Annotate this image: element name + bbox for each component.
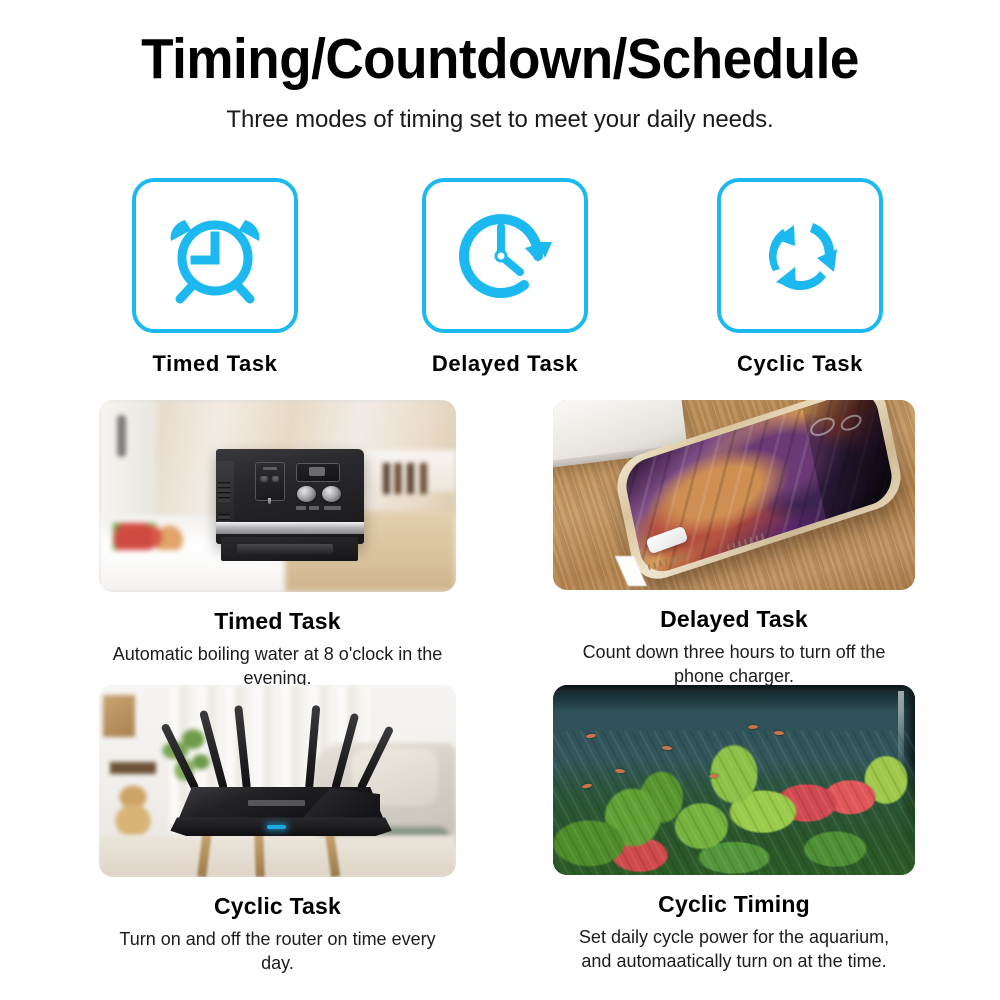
header: Timing/Countdown/Schedule Three modes of… bbox=[0, 30, 1000, 134]
card-description: Set daily cycle power for the aquarium, … bbox=[553, 925, 915, 974]
icon-frame bbox=[132, 178, 298, 333]
cycle-arrows-icon bbox=[747, 205, 853, 307]
card-title: Cyclic Task bbox=[99, 893, 456, 920]
alarm-clock-icon bbox=[159, 204, 271, 308]
promo-page: Timing/Countdown/Schedule Three modes of… bbox=[0, 0, 1000, 1000]
use-case-card[interactable]: Cyclic Timing Set daily cycle power for … bbox=[553, 685, 915, 974]
page-title: Timing/Countdown/Schedule bbox=[35, 30, 965, 90]
use-case-card[interactable]: Delayed Task Count down three hours to t… bbox=[553, 400, 915, 689]
mode-item-cyclic-task[interactable]: Cyclic Task bbox=[700, 178, 900, 377]
use-case-card[interactable]: Timed Task Automatic boiling water at 8 … bbox=[99, 400, 456, 691]
card-description: Turn on and off the router on time every… bbox=[99, 927, 456, 976]
page-subtitle: Three modes of timing set to meet your d… bbox=[0, 106, 1000, 134]
card-description: Automatic boiling water at 8 o'clock in … bbox=[99, 642, 456, 691]
mode-item-timed-task[interactable]: Timed Task bbox=[115, 178, 315, 377]
mode-label: Cyclic Task bbox=[700, 351, 900, 377]
use-case-card[interactable]: Cyclic Task Turn on and off the router o… bbox=[99, 685, 456, 976]
clock-arrow-icon bbox=[450, 204, 560, 308]
use-case-card-grid: Timed Task Automatic boiling water at 8 … bbox=[0, 400, 1000, 1000]
mode-icon-row: Timed Task Delayed Task bbox=[0, 178, 1000, 378]
card-title: Timed Task bbox=[99, 608, 456, 635]
water-dispenser-kitchen-photo bbox=[99, 400, 456, 592]
icon-frame bbox=[717, 178, 883, 333]
card-title: Cyclic Timing bbox=[553, 891, 915, 918]
phone-charging-desk-photo bbox=[553, 400, 915, 590]
mode-label: Timed Task bbox=[115, 351, 315, 377]
planted-aquarium-photo bbox=[553, 685, 915, 875]
icon-frame bbox=[422, 178, 588, 333]
mode-item-delayed-task[interactable]: Delayed Task bbox=[405, 178, 605, 377]
mode-label: Delayed Task bbox=[405, 351, 605, 377]
card-description: Count down three hours to turn off the p… bbox=[553, 640, 915, 689]
wifi-router-living-room-photo bbox=[99, 685, 456, 877]
card-title: Delayed Task bbox=[553, 606, 915, 633]
